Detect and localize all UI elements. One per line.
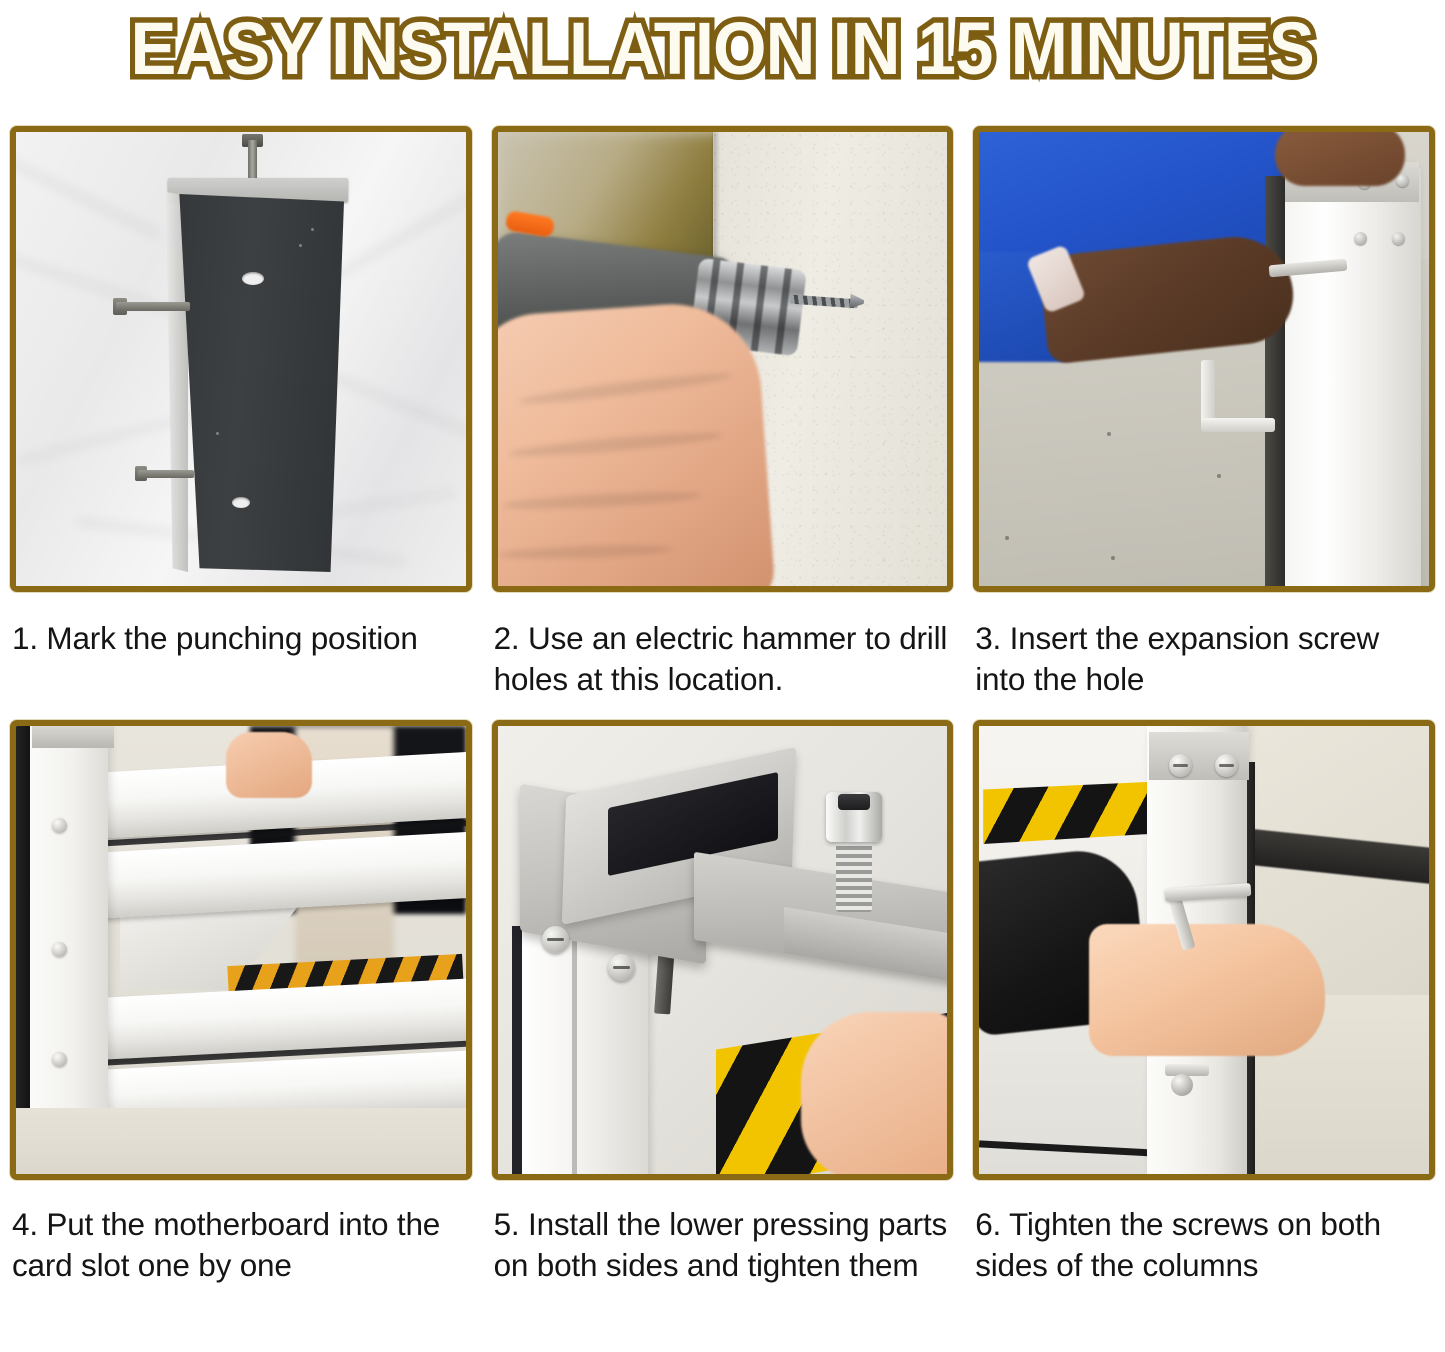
photo-insert-expansion-screw bbox=[979, 132, 1429, 586]
step-card-5: 5. Install the lower pressing parts on b… bbox=[482, 700, 964, 1286]
header-banner: EASY INSTALLATION IN 15 MINUTES bbox=[0, 0, 1445, 96]
photo-install-pressing-parts bbox=[498, 726, 948, 1174]
photo-frame-6 bbox=[973, 720, 1435, 1180]
step-caption-6: 6. Tighten the screws on both sides of t… bbox=[963, 1180, 1445, 1286]
hand bbox=[226, 732, 312, 798]
expansion-bolt bbox=[116, 302, 190, 311]
photo-frame-3 bbox=[973, 126, 1435, 592]
column-screw bbox=[52, 1052, 67, 1067]
column-body bbox=[176, 194, 344, 572]
post-screw bbox=[1396, 174, 1409, 187]
steps-row-bottom: 4. Put the motherboard into the card slo… bbox=[0, 700, 1445, 1286]
worker-hand bbox=[1275, 132, 1405, 186]
step-caption-1: 1. Mark the punching position bbox=[0, 592, 482, 659]
photo-mark-punching-position bbox=[16, 132, 466, 586]
mounting-hole bbox=[242, 272, 264, 285]
column-post bbox=[1285, 168, 1421, 586]
hand bbox=[801, 1012, 947, 1174]
photo-frame-4 bbox=[10, 720, 472, 1180]
step-caption-3: 3. Insert the expansion screw into the h… bbox=[963, 592, 1445, 700]
step-caption-2: 2. Use an electric hammer to drill holes… bbox=[482, 592, 964, 700]
hazard-stripe bbox=[983, 782, 1147, 844]
post-screw bbox=[1392, 232, 1405, 245]
bolt-shaft bbox=[836, 834, 872, 912]
photo-tighten-column-screws bbox=[979, 726, 1429, 1174]
step-card-4: 4. Put the motherboard into the card slo… bbox=[0, 700, 482, 1286]
step-caption-5: 5. Install the lower pressing parts on b… bbox=[482, 1180, 964, 1286]
photo-frame-2 bbox=[492, 126, 954, 592]
bracket-screw bbox=[542, 926, 569, 953]
post-screw bbox=[1354, 232, 1367, 245]
photo-drill-holes bbox=[498, 132, 948, 586]
hand bbox=[1089, 924, 1325, 1056]
column-screw bbox=[52, 942, 67, 957]
threaded-stud bbox=[248, 140, 257, 182]
steps-grid: 1. Mark the punching position bbox=[0, 112, 1445, 1286]
steps-row-top: 1. Mark the punching position bbox=[0, 112, 1445, 700]
bracket-screw bbox=[608, 954, 635, 981]
step-card-2: 2. Use an electric hammer to drill holes… bbox=[482, 112, 964, 700]
expansion-bolt bbox=[138, 470, 194, 478]
photo-frame-5 bbox=[492, 720, 954, 1180]
step-card-6: 6. Tighten the screws on both sides of t… bbox=[963, 700, 1445, 1286]
photo-frame-1 bbox=[10, 126, 472, 592]
page-title: EASY INSTALLATION IN 15 MINUTES bbox=[131, 9, 1314, 89]
photo-insert-boards-into-slot bbox=[16, 726, 466, 1174]
step-caption-4: 4. Put the motherboard into the card slo… bbox=[0, 1180, 482, 1286]
mounting-hole bbox=[232, 497, 250, 508]
step-card-3: 3. Insert the expansion screw into the h… bbox=[963, 112, 1445, 700]
column-post bbox=[30, 726, 108, 1174]
column-screw bbox=[52, 818, 67, 833]
step-card-1: 1. Mark the punching position bbox=[0, 112, 482, 700]
